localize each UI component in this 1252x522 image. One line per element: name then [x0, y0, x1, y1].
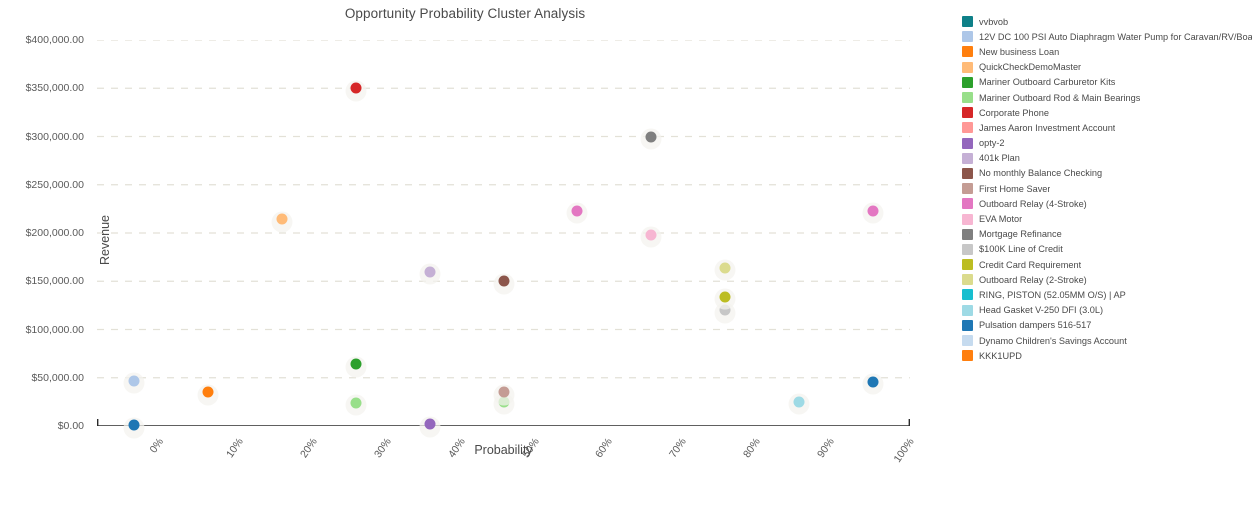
legend-swatch-icon	[962, 289, 973, 300]
data-point[interactable]	[128, 420, 139, 431]
chart-legend: vvbvob12V DC 100 PSI Auto Diaphragm Wate…	[962, 14, 1252, 363]
legend-swatch-icon	[962, 244, 973, 255]
data-point[interactable]	[350, 83, 361, 94]
legend-swatch-icon	[962, 122, 973, 133]
legend-item[interactable]: New business Loan	[962, 44, 1252, 59]
legend-item[interactable]: EVA Motor	[962, 211, 1252, 226]
legend-swatch-icon	[962, 62, 973, 73]
legend-item[interactable]: RING, PISTON (52.05MM O/S) | AP	[962, 287, 1252, 302]
legend-item-label: Pulsation dampers 516-517	[979, 320, 1091, 330]
y-axis-tick-label: $200,000.00	[26, 227, 84, 239]
legend-swatch-icon	[962, 214, 973, 225]
legend-item-label: EVA Motor	[979, 214, 1022, 224]
chart-title: Opportunity Probability Cluster Analysis	[0, 6, 930, 21]
legend-item[interactable]: Head Gasket V-250 DFI (3.0L)	[962, 303, 1252, 318]
legend-item[interactable]: vvbvob	[962, 14, 1252, 29]
legend-item[interactable]: 401k Plan	[962, 151, 1252, 166]
legend-item[interactable]: $100K Line of Credit	[962, 242, 1252, 257]
legend-swatch-icon	[962, 274, 973, 285]
legend-item[interactable]: Mortgage Refinance	[962, 227, 1252, 242]
data-point[interactable]	[350, 359, 361, 370]
legend-item[interactable]: KKK1UPD	[962, 348, 1252, 363]
legend-item[interactable]: Outboard Relay (2-Stroke)	[962, 272, 1252, 287]
y-axis-tick-label: $400,000.00	[26, 34, 84, 46]
data-point[interactable]	[572, 205, 583, 216]
data-point[interactable]	[424, 419, 435, 430]
legend-item-label: Credit Card Requirement	[979, 260, 1081, 270]
legend-item-label: 401k Plan	[979, 153, 1020, 163]
legend-item[interactable]: QuickCheckDemoMaster	[962, 60, 1252, 75]
data-point[interactable]	[424, 266, 435, 277]
legend-item-label: Outboard Relay (4-Stroke)	[979, 199, 1087, 209]
legend-item-label: Outboard Relay (2-Stroke)	[979, 275, 1087, 285]
data-point[interactable]	[720, 291, 731, 302]
legend-item-label: New business Loan	[979, 47, 1059, 57]
legend-item[interactable]: First Home Saver	[962, 181, 1252, 196]
legend-swatch-icon	[962, 77, 973, 88]
legend-swatch-icon	[962, 183, 973, 194]
legend-swatch-icon	[962, 259, 973, 270]
legend-item-label: 12V DC 100 PSI Auto Diaphragm Water Pump…	[979, 32, 1252, 42]
y-axis-tick-label: $100,000.00	[26, 324, 84, 336]
legend-item[interactable]: Corporate Phone	[962, 105, 1252, 120]
data-point[interactable]	[646, 131, 657, 142]
legend-item[interactable]: Mariner Outboard Carburetor Kits	[962, 75, 1252, 90]
data-point[interactable]	[202, 387, 213, 398]
legend-item-label: RING, PISTON (52.05MM O/S) | AP	[979, 290, 1126, 300]
legend-item-label: QuickCheckDemoMaster	[979, 62, 1081, 72]
y-axis-tick-label: $300,000.00	[26, 131, 84, 143]
data-point[interactable]	[720, 262, 731, 273]
legend-item-label: Dynamo Children's Savings Account	[979, 336, 1127, 346]
legend-swatch-icon	[962, 138, 973, 149]
legend-swatch-icon	[962, 229, 973, 240]
legend-item-label: opty-2	[979, 138, 1005, 148]
plot-axes-svg	[97, 40, 910, 426]
data-point[interactable]	[350, 397, 361, 408]
legend-item[interactable]: 12V DC 100 PSI Auto Diaphragm Water Pump…	[962, 29, 1252, 44]
y-axis-tick-label: $0.00	[58, 420, 84, 432]
legend-item-label: KKK1UPD	[979, 351, 1022, 361]
legend-swatch-icon	[962, 31, 973, 42]
scatter-chart: Opportunity Probability Cluster Analysis…	[0, 0, 1252, 522]
data-point[interactable]	[794, 396, 805, 407]
legend-swatch-icon	[962, 107, 973, 118]
data-point[interactable]	[868, 376, 879, 387]
legend-swatch-icon	[962, 168, 973, 179]
legend-swatch-icon	[962, 305, 973, 316]
legend-item[interactable]: Outboard Relay (4-Stroke)	[962, 196, 1252, 211]
data-point[interactable]	[646, 229, 657, 240]
legend-item-label: James Aaron Investment Account	[979, 123, 1115, 133]
legend-item-label: Mariner Outboard Carburetor Kits	[979, 77, 1115, 87]
data-point[interactable]	[498, 387, 509, 398]
legend-swatch-icon	[962, 46, 973, 57]
data-point[interactable]	[868, 205, 879, 216]
legend-item[interactable]: James Aaron Investment Account	[962, 120, 1252, 135]
legend-swatch-icon	[962, 350, 973, 361]
legend-swatch-icon	[962, 320, 973, 331]
legend-swatch-icon	[962, 198, 973, 209]
legend-item-label: No monthly Balance Checking	[979, 168, 1102, 178]
legend-swatch-icon	[962, 16, 973, 27]
plot-area: $0.00$50,000.00$100,000.00$150,000.00$20…	[97, 40, 910, 426]
y-axis-tick-label: $350,000.00	[26, 82, 84, 94]
legend-swatch-icon	[962, 92, 973, 103]
legend-item[interactable]: Pulsation dampers 516-517	[962, 318, 1252, 333]
legend-item-label: vvbvob	[979, 17, 1008, 27]
y-axis-tick-label: $50,000.00	[31, 372, 84, 384]
legend-item[interactable]: Mariner Outboard Rod & Main Bearings	[962, 90, 1252, 105]
legend-item-label: $100K Line of Credit	[979, 244, 1063, 254]
legend-item-label: Head Gasket V-250 DFI (3.0L)	[979, 305, 1103, 315]
data-point[interactable]	[276, 214, 287, 225]
legend-swatch-icon	[962, 335, 973, 346]
legend-item-label: First Home Saver	[979, 184, 1050, 194]
x-axis-title: Probability	[97, 443, 910, 457]
legend-swatch-icon	[962, 153, 973, 164]
y-axis-tick-label: $250,000.00	[26, 179, 84, 191]
legend-item-label: Mariner Outboard Rod & Main Bearings	[979, 93, 1140, 103]
data-point[interactable]	[498, 276, 509, 287]
legend-item-label: Corporate Phone	[979, 108, 1049, 118]
legend-item[interactable]: No monthly Balance Checking	[962, 166, 1252, 181]
legend-item-label: Mortgage Refinance	[979, 229, 1062, 239]
legend-item[interactable]: opty-2	[962, 136, 1252, 151]
y-axis-tick-label: $150,000.00	[26, 275, 84, 287]
data-point[interactable]	[128, 375, 139, 386]
legend-item[interactable]: Credit Card Requirement	[962, 257, 1252, 272]
legend-item[interactable]: Dynamo Children's Savings Account	[962, 333, 1252, 348]
y-axis-title: Revenue	[98, 170, 112, 310]
